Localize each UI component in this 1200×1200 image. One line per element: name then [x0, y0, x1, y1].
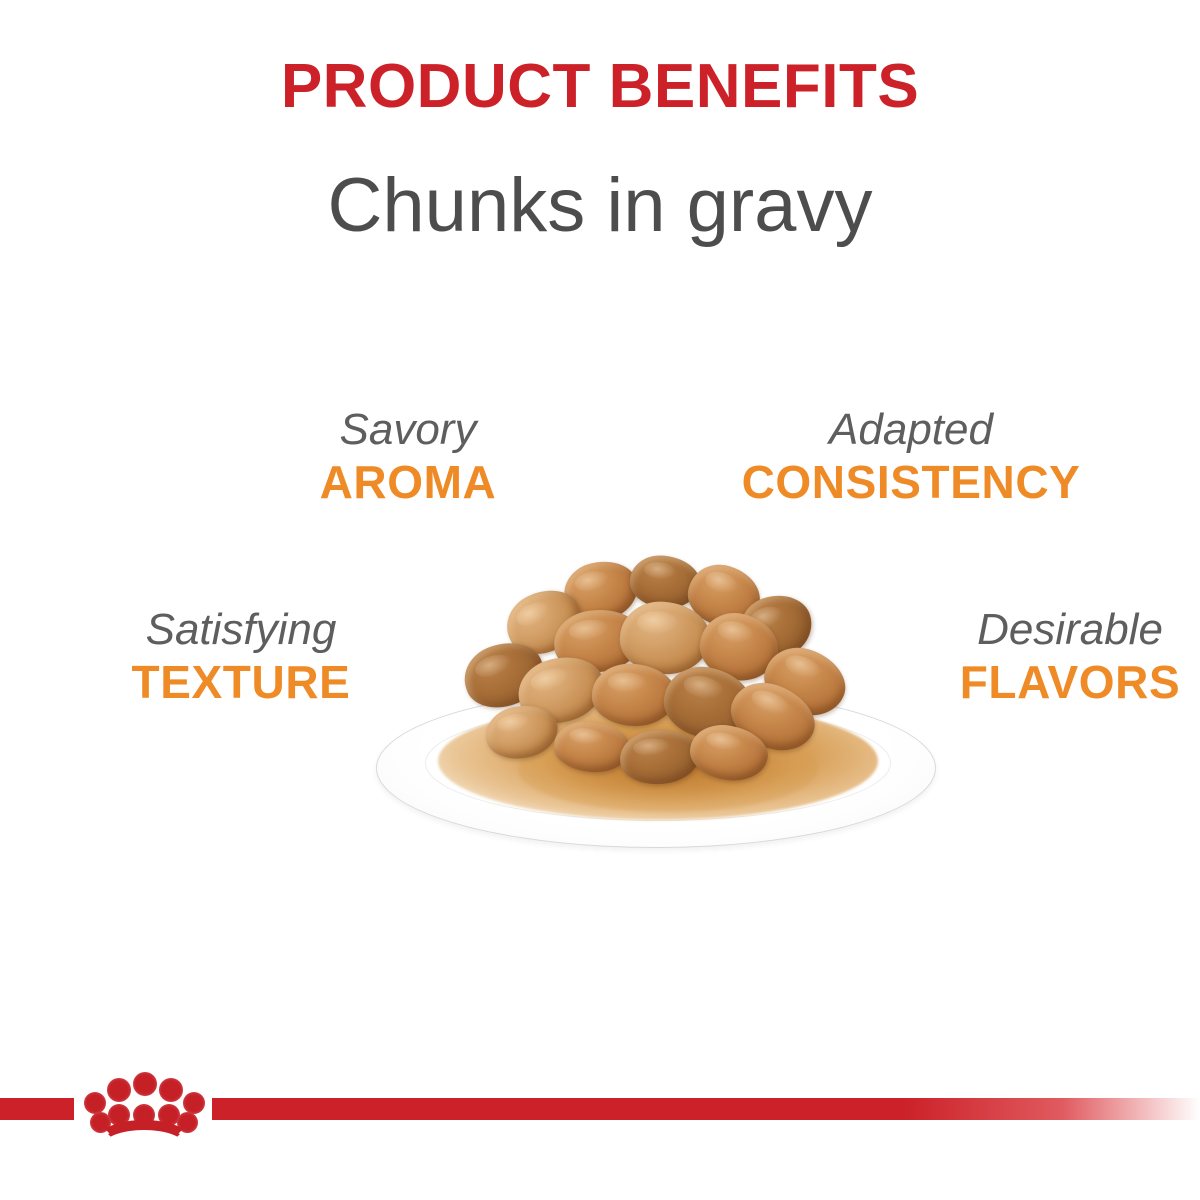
benefit-aroma-noun: AROMA [258, 459, 558, 506]
benefit-consistency-adjective: Adapted [716, 408, 1106, 453]
footer-rule-right [212, 1098, 1200, 1120]
crown-dot [183, 1092, 205, 1114]
product-photo-chunks-in-gravy [368, 540, 944, 860]
benefit-flavors-noun: FLAVORS [930, 659, 1200, 706]
benefit-flavors-adjective: Desirable [930, 608, 1200, 653]
benefit-texture: Satisfying TEXTURE [96, 608, 386, 706]
benefit-flavors: Desirable FLAVORS [930, 608, 1200, 706]
page-title: Chunks in gravy [0, 168, 1200, 244]
crown-dot [133, 1072, 157, 1096]
page-eyebrow: PRODUCT BENEFITS [0, 56, 1200, 118]
benefit-texture-noun: TEXTURE [96, 659, 386, 706]
benefit-consistency-noun: CONSISTENCY [716, 459, 1106, 506]
crown-dot [159, 1078, 183, 1102]
benefit-texture-adjective: Satisfying [96, 608, 386, 653]
benefit-aroma-adjective: Savory [258, 408, 558, 453]
royal-canin-crown-icon [78, 1066, 210, 1158]
crown-dot [84, 1092, 106, 1114]
benefit-consistency: Adapted CONSISTENCY [716, 408, 1106, 506]
benefit-aroma: Savory AROMA [258, 408, 558, 506]
crown-base-arc-inner [100, 1126, 188, 1164]
footer-rule-left [0, 1098, 74, 1120]
crown-dot [107, 1078, 131, 1102]
product-benefits-page: PRODUCT BENEFITS Chunks in gravy Savory … [0, 0, 1200, 1200]
